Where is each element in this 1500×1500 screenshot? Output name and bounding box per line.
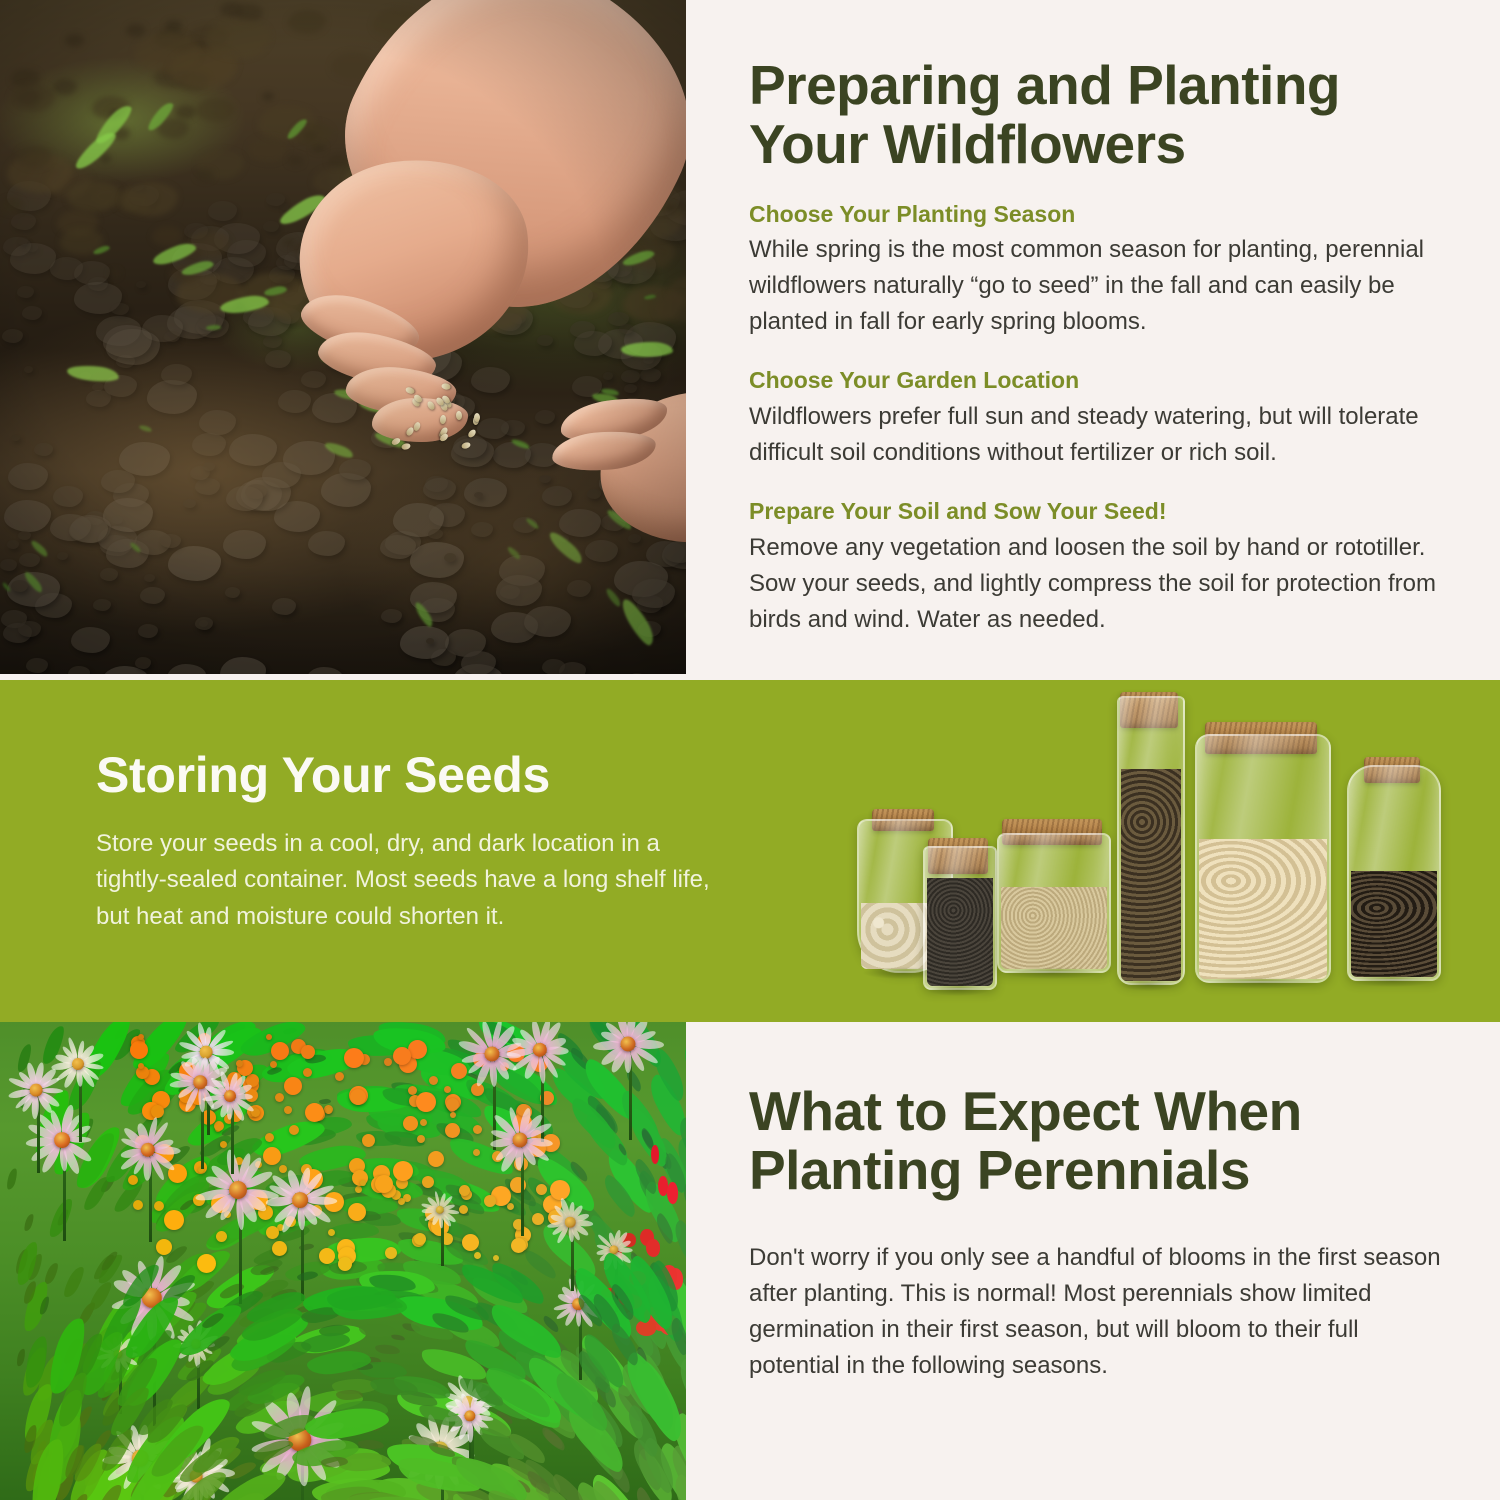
block-garden-location: Choose Your Garden Location Wildflowers … (749, 366, 1449, 471)
glass-body (1347, 765, 1441, 981)
section-storing-your-seeds: Storing Your Seeds Store your seeds in a… (0, 680, 1500, 1022)
photo-wildflower-meadow (0, 1022, 686, 1500)
jar-shadow (1203, 977, 1319, 989)
seed-fill (1001, 887, 1107, 969)
meadow-foliage (0, 1022, 686, 1500)
block-prepare-soil: Prepare Your Soil and Sow Your Seed! Rem… (749, 497, 1449, 638)
jar-sunflower-seeds (1347, 769, 1437, 981)
page-title: Preparing and Planting Your Wildflowers (749, 56, 1429, 174)
seed-fill (1199, 839, 1327, 979)
subheading-prepare-soil: Prepare Your Soil and Sow Your Seed! (749, 497, 1449, 526)
bottom-heading: What to Expect When Planting Perennials (749, 1082, 1429, 1200)
jar-pumpkin-seeds (1195, 738, 1327, 983)
photo-hands-sowing-seeds (0, 0, 686, 674)
glass-body (1117, 696, 1185, 985)
band-text-column: Storing Your Seeds Store your seeds in a… (96, 748, 756, 935)
top-text-column: Preparing and Planting Your Wildflowers … (749, 56, 1449, 638)
glass-body (923, 846, 997, 990)
body-planting-season: While spring is the most common season f… (749, 232, 1449, 340)
photo-seed-jars (845, 695, 1465, 995)
seed-fill (1121, 769, 1181, 981)
body-garden-location: Wildflowers prefer full sun and steady w… (749, 399, 1449, 471)
jar-shadow (927, 984, 989, 996)
jar-poppy-seeds (923, 850, 993, 990)
jar-tan-seeds (997, 837, 1107, 973)
band-body: Store your seeds in a cool, dry, and dar… (96, 826, 736, 935)
vignette (0, 0, 686, 674)
band-heading: Storing Your Seeds (96, 748, 756, 802)
seed-fill (927, 878, 993, 986)
block-planting-season: Choose Your Planting Season While spring… (749, 200, 1449, 341)
seed-fill (1351, 871, 1437, 977)
jar-shadow (1121, 979, 1177, 991)
jar-tall-tube-seeds (1117, 700, 1181, 985)
jar-shadow (1352, 975, 1431, 987)
body-prepare-soil: Remove any vegetation and loosen the soi… (749, 530, 1449, 638)
glass-body (997, 833, 1111, 973)
subheading-planting-season: Choose Your Planting Season (749, 200, 1449, 229)
subheading-garden-location: Choose Your Garden Location (749, 366, 1449, 395)
jar-shadow (1004, 967, 1101, 979)
section-what-to-expect: What to Expect When Planting Perennials … (0, 1022, 1500, 1500)
infographic-page: Preparing and Planting Your Wildflowers … (0, 0, 1500, 1500)
bottom-body: Don't worry if you only see a handful of… (749, 1240, 1449, 1384)
bottom-text-column: What to Expect When Planting Perennials … (749, 1082, 1449, 1384)
glass-body (1195, 734, 1331, 983)
section-preparing-and-planting: Preparing and Planting Your Wildflowers … (0, 0, 1500, 680)
